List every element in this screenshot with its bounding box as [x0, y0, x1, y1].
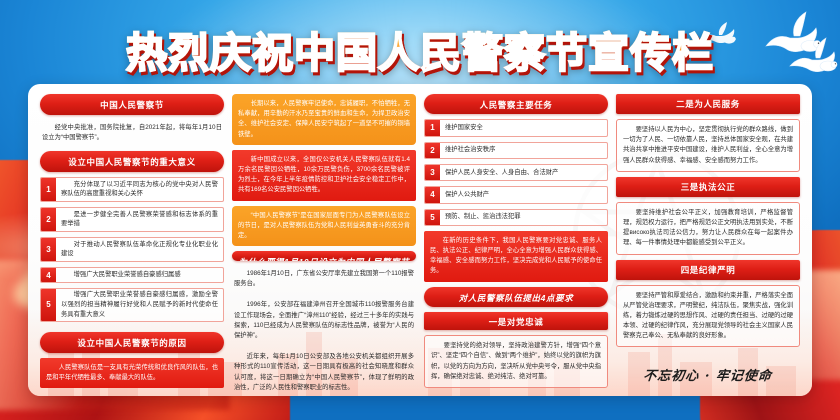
section-paragraph: 1986年1月10日，广东省公安厅率先建立我国第一个110报警服务台。 — [232, 266, 416, 292]
highlight-box: “中国人民警察节”是在国家层面专门为人民警察队伍设立的节日，是对人民警察队伍为党… — [232, 206, 416, 247]
list-item-label: 对于推动人民警察队伍革命化正规化专业化职业化建设 — [56, 238, 223, 261]
list-item: 1 充分体现了以习近平同志为核心的党中央对人民警察队伍的高度重视和关心关怀 — [40, 177, 224, 202]
page-title: 热烈庆祝中国人民警察节宣传栏 — [126, 19, 714, 79]
section-heading: 三是执法公正 — [616, 177, 800, 197]
outlined-box: 要坚持严管和厚爱结合，激励和约束并重，严格落实全面从严管党治理要求，严明警纪，纯… — [616, 285, 800, 348]
list-item: 2 维护社会治安秩序 — [424, 142, 608, 159]
section-heading: 二是为人民服务 — [616, 94, 800, 114]
outlined-box: 要坚持以人民为中心，坚定贯彻执行党的群众路线，做到一切为了人民、一切依靠人民，坚… — [616, 119, 800, 172]
list-item-label: 保护人民人身安全、人身自由、合法财产 — [440, 165, 607, 180]
list-item-label: 保护人公共财产 — [440, 187, 607, 202]
highlight-box: 人民警察队伍是一支具有光荣传统和优良作风的队伍，也是和平年代牺牲最多、奉献最大的… — [40, 358, 224, 388]
list-item-label: 维护国家安全 — [440, 120, 607, 135]
list-item-number: 2 — [425, 143, 440, 158]
list-item-number: 3 — [41, 238, 56, 261]
outlined-box: 要坚持党的绝对领导，坚持政治建警方针，增强“四个意识”、坚定“四个自信”、做到“… — [424, 335, 608, 388]
list-item-number: 1 — [41, 178, 56, 201]
list-item-number: 2 — [41, 208, 56, 231]
banner-title-wrap: 热烈庆祝中国人民警察节宣传栏 — [0, 18, 840, 80]
section-heading: 人民警察主要任务 — [424, 94, 608, 114]
list-item: 4 增强广大民警职业荣誉感自豪感归属感 — [40, 267, 224, 283]
list-item: 5 预防、制止、惩治违法犯罪 — [424, 209, 608, 226]
columns-container: 中国人民警察节 经党中央批准，国务院批复，自2021年起，将每年1月10日设立为… — [28, 84, 812, 396]
column-2: 长期以来，人民警察牢记使命，忠诚履职，不怕牺牲，无私奉献，用辛勤的汗水乃至宝贵的… — [232, 94, 416, 388]
list-item-label: 预防、制止、惩治违法犯罪 — [440, 210, 607, 225]
list-item: 5 增强广大民警职业荣誉感自豪感归属感，激励全警以强烈的担当精神履行好党和人民赋… — [40, 288, 224, 322]
section-paragraph: 1996年，公安部在福建漳州召开全国城市110报警服务台建设工作现场会，全面推广… — [232, 297, 416, 344]
highlight-box: 新中国成立以来，全国仅公安机关人民警察队伍就有1.4万余名民警因公牺牲，10余万… — [232, 150, 416, 201]
list-item-label: 增强广大民警职业荣誉感自豪感归属感 — [56, 268, 223, 282]
section-heading: 四是纪律严明 — [616, 260, 800, 280]
list-item: 2 是进一步健全完善人民警察荣誉感和标志体系的重要举措 — [40, 207, 224, 232]
list-item-number: 3 — [425, 165, 440, 180]
section-heading: 对人民警察队伍提出4点要求 — [424, 287, 608, 307]
list-item-number: 1 — [425, 120, 440, 135]
section-paragraph: 近年来，每年1月10日公安部及各地公安机关都组织开展多种形式的110宣传活动，这… — [232, 349, 416, 396]
list-item: 3 保护人民人身安全、人身自由、合法财产 — [424, 164, 608, 181]
highlight-box: 长期以来，人民警察牢记使命，忠诚履职，不怕牺牲，无私奉献，用辛勤的汗水乃至宝贵的… — [232, 94, 416, 145]
section-heading: 设立中国人民警察节的重大意义 — [40, 151, 224, 172]
column-4: 二是为人民服务 要坚持以人民为中心，坚定贯彻执行党的群众路线，做到一切为了人民、… — [616, 94, 800, 388]
list-item-label: 充分体现了以习近平同志为核心的党中央对人民警察队伍的高度重视和关心关怀 — [56, 178, 223, 201]
outlined-box: 要坚持维护社会公平正义，加强教育培训，严格监督管理，规范权力运行，把严格规范公正… — [616, 202, 800, 255]
list-item-number: 5 — [41, 289, 56, 321]
list-item: 3 对于推动人民警察队伍革命化正规化专业化职业化建设 — [40, 237, 224, 262]
list-item-number: 4 — [41, 268, 56, 282]
list-item-number: 4 — [425, 187, 440, 202]
section-heading: 中国人民警察节 — [40, 94, 224, 115]
section-heading: 为什么要得1月10日设立为中国人民警察节 — [232, 251, 416, 261]
section-heading: 一是对党忠诚 — [424, 312, 608, 330]
section-paragraph: 经党中央批准，国务院批复，自2021年起，将每年1月10日设立为“中国警察节”。 — [40, 120, 224, 146]
list-item-label: 是进一步健全完善人民警察荣誉感和标志体系的重要举措 — [56, 208, 223, 231]
column-1: 中国人民警察节 经党中央批准，国务院批复，自2021年起，将每年1月10日设立为… — [40, 94, 224, 388]
calligraphy-slogan: 不忘初心 · 牢记使命 — [614, 357, 801, 388]
list-item-number: 5 — [425, 210, 440, 225]
section-heading: 设立中国人民警察节的原因 — [40, 332, 224, 353]
content-panel: 中国人民警察节 经党中央批准，国务院批复，自2021年起，将每年1月10日设立为… — [28, 84, 812, 396]
list-item: 1 维护国家安全 — [424, 119, 608, 136]
list-item-label: 维护社会治安秩序 — [440, 143, 607, 158]
list-item: 4 保护人公共财产 — [424, 186, 608, 203]
list-item-label: 增强广大民警职业荣誉感自豪感归属感，激励全警以强烈的担当精神履行好党和人民赋予的… — [56, 289, 223, 321]
column-3: 人民警察主要任务 1 维护国家安全 2 维护社会治安秩序 3 保护人民人身安全、… — [424, 94, 608, 388]
highlight-box: 在新的历史条件下，我国人民警察要对党忠诚、服务人民、执法公正、纪律严明，全心全意… — [424, 231, 608, 282]
